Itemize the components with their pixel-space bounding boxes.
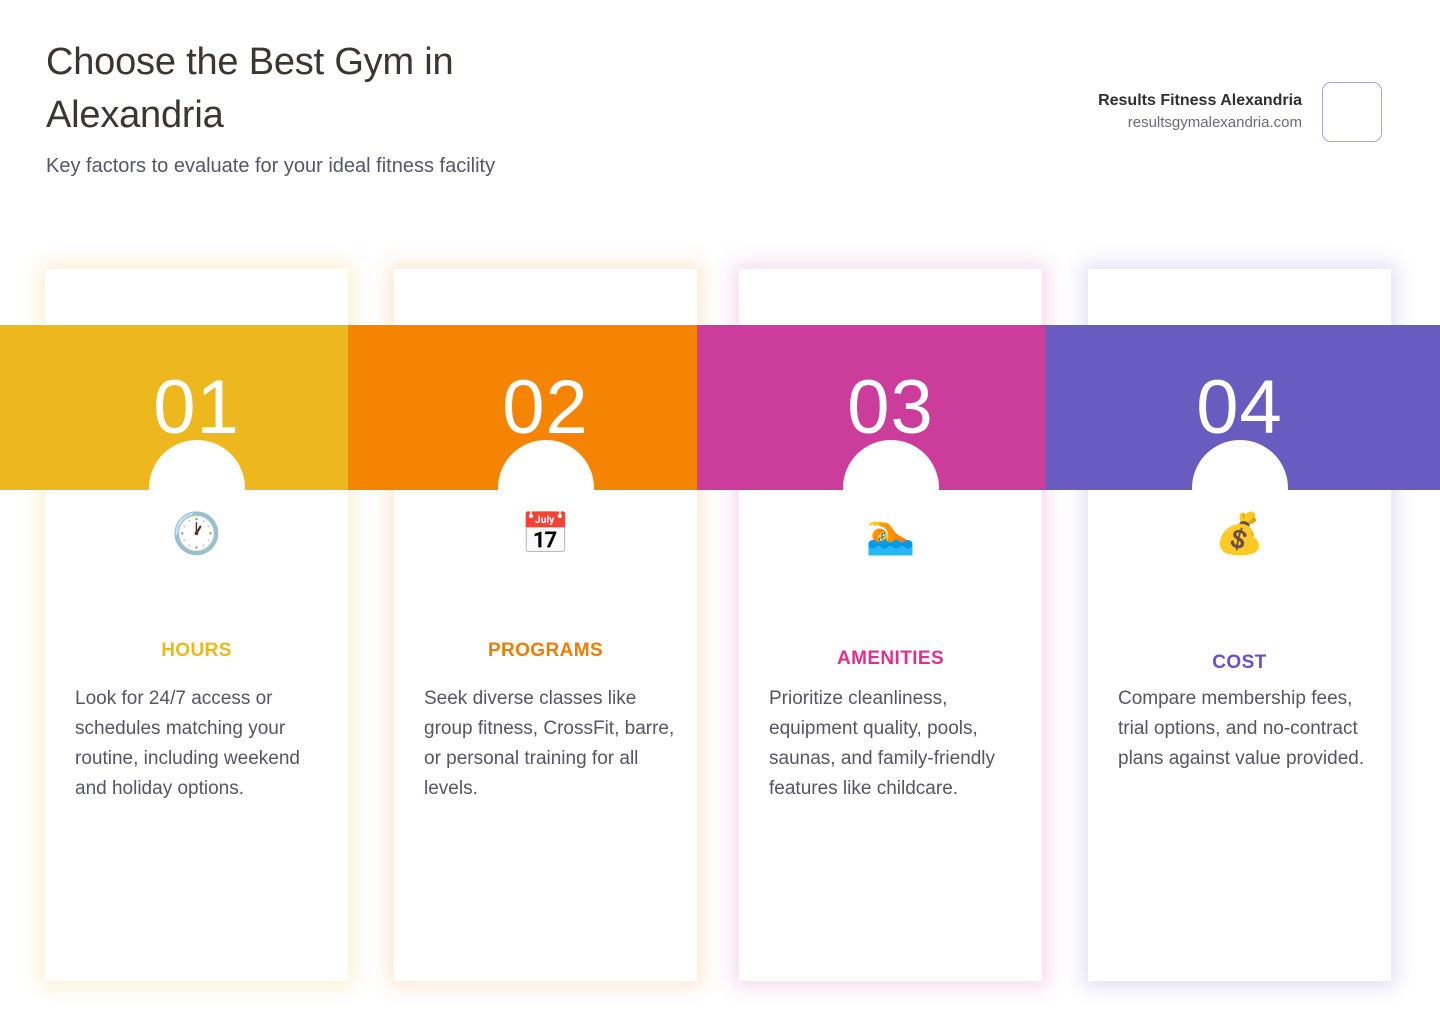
- calendar-emoji: 📅: [394, 512, 697, 556]
- step-label-programs: PROGRAMS: [394, 640, 697, 662]
- money-bag-emoji: 💰: [1088, 512, 1391, 556]
- steps-container: 🕐 HOURS Look for 24/7 access or schedule…: [0, 0, 1440, 1024]
- step-body-hours: Look for 24/7 access or schedules matchi…: [75, 684, 327, 804]
- step-label-cost: COST: [1088, 652, 1391, 674]
- step-label-hours: HOURS: [45, 640, 348, 662]
- step-body-amenities: Prioritize cleanliness, equipment qualit…: [769, 684, 1021, 804]
- clock-emoji: 🕐: [45, 512, 348, 556]
- step-body-programs: Seek diverse classes like group fitness,…: [424, 684, 676, 804]
- swimmer-emoji: 🏊: [739, 512, 1042, 556]
- step-body-cost: Compare membership fees, trial options, …: [1118, 684, 1370, 774]
- step-label-amenities: AMENITIES: [739, 648, 1042, 670]
